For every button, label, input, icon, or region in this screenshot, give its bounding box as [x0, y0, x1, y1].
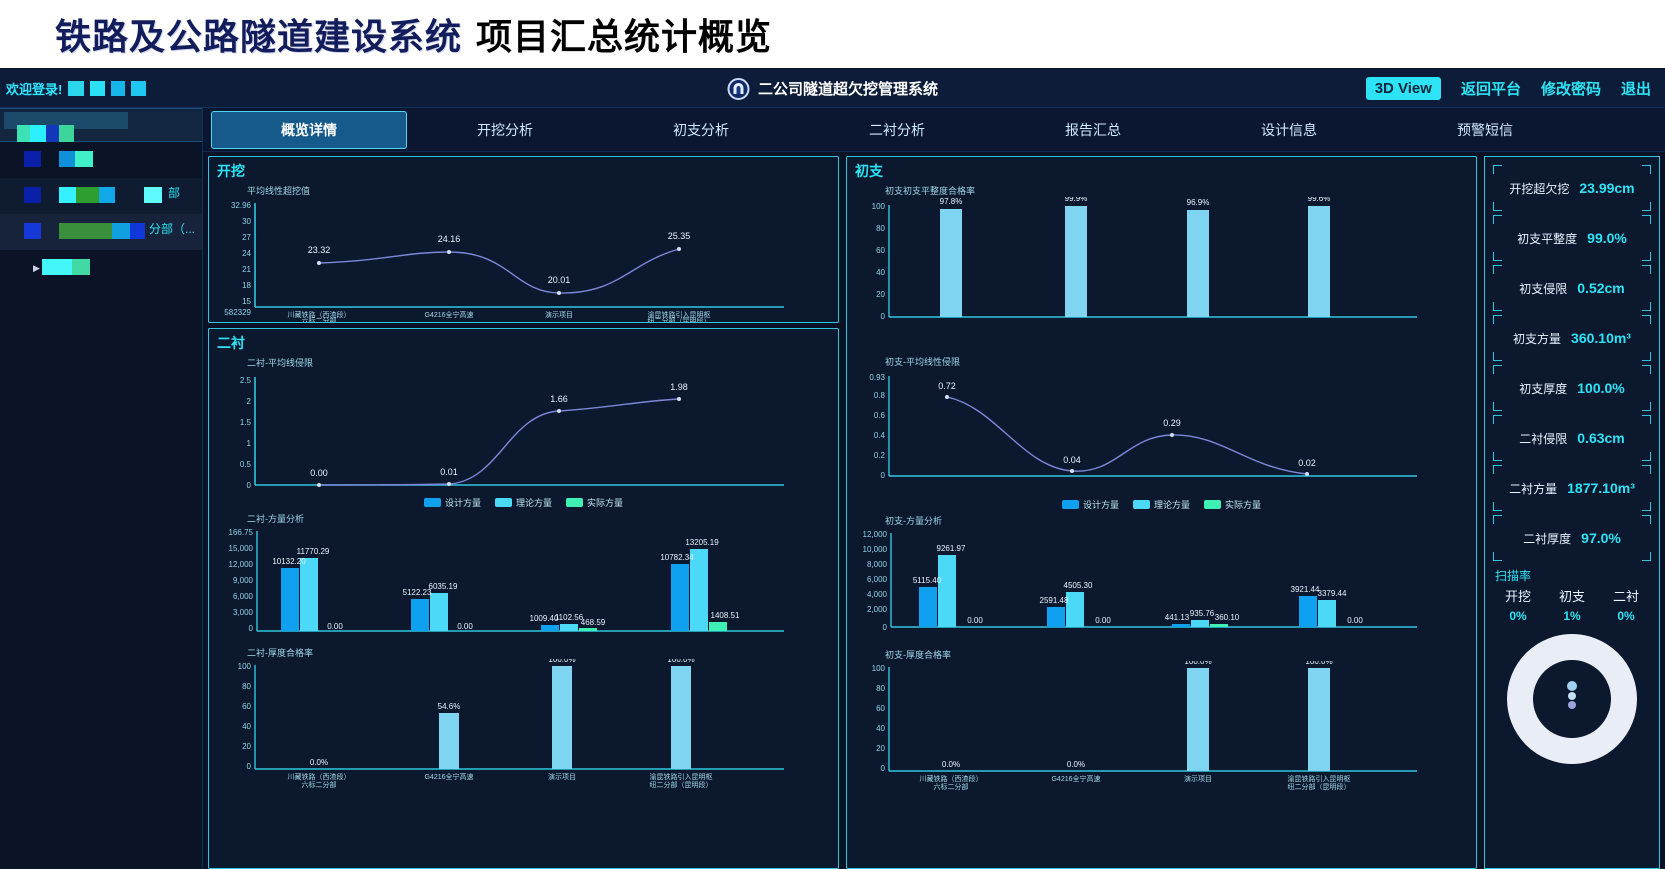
bar-design [919, 587, 937, 627]
legend-item-actual: 实际方量 [566, 496, 623, 509]
xtick: 纽二分部（昆明段） [648, 316, 711, 323]
stat-value: 99.0% [1587, 230, 1627, 246]
scan-rate-headers: 开挖 初支 二衬 [1491, 586, 1653, 605]
ytick: 0 [247, 762, 252, 771]
ytick: 20 [876, 744, 885, 753]
datalabel: 441.13 [1165, 613, 1190, 622]
corner-decoration [1493, 302, 1502, 311]
bar-flatness [1308, 206, 1330, 317]
tab-warning-sms[interactable]: 预警短信 [1387, 112, 1583, 148]
datalabel: 0.00 [967, 616, 983, 625]
scan-rate-donut-chart [1502, 629, 1642, 769]
datalabel: 24.16 [438, 234, 461, 244]
stat-support-volume: 初支方量 360.10m³ [1491, 313, 1653, 363]
datalabel: 2591.48 [1040, 596, 1069, 605]
datalabel: 0.02 [1298, 458, 1316, 468]
bar-design [1047, 607, 1065, 627]
chart-support-avg-limit: 0.93 0.8 0.6 0.4 0.2 0 [847, 368, 1427, 496]
ytick: 30 [242, 217, 251, 226]
tab-lining-analysis[interactable]: 二衬分析 [799, 112, 995, 148]
datalabel: 0.0% [310, 758, 328, 767]
bar-design [671, 564, 689, 631]
ytick: 15 [242, 297, 251, 306]
legend-item-theory: 理论方量 [1133, 498, 1190, 511]
datalabel: 1.66 [550, 394, 568, 404]
ytick: 3,000 [233, 608, 254, 617]
ytick: 60 [242, 702, 251, 711]
legend-item-theory: 理论方量 [495, 496, 552, 509]
bar-theory [300, 558, 318, 631]
corner-decoration [1642, 502, 1651, 511]
ytick: 100 [872, 664, 886, 673]
corner-decoration [1642, 315, 1651, 324]
chart-support-flatness-rate: 100 80 60 40 20 0 [847, 197, 1427, 352]
top-actions: 3D View 返回平台 修改密码 退出 [1366, 77, 1651, 100]
redacted-username-block [68, 81, 84, 96]
chart-title-support-thickness: 初支-厚度合格率 [847, 645, 1476, 661]
stat-label: 初支平整度 [1517, 230, 1577, 247]
corner-decoration [1493, 352, 1502, 361]
ytick: 2 [247, 397, 252, 406]
datalabel: 9261.97 [937, 544, 966, 553]
corner-decoration [1642, 415, 1651, 424]
ytick: 0 [881, 764, 886, 773]
stat-label: 二衬方量 [1509, 480, 1557, 497]
scan-head-support: 初支 [1559, 586, 1585, 605]
stat-support-thickness: 初支厚度 100.0% [1491, 363, 1653, 413]
redacted-block [24, 151, 41, 167]
chart-title-excavation-linear: 平均线性超挖值 [209, 181, 838, 197]
ytick: 80 [876, 224, 885, 233]
stat-label: 初支侵限 [1519, 280, 1567, 297]
ytick: 100 [872, 202, 886, 211]
stat-label: 二衬厚度 [1523, 530, 1571, 547]
bar-thickness [671, 666, 691, 769]
corner-decoration [1642, 515, 1651, 524]
legend-swatch-theory [1133, 500, 1150, 509]
logout-link[interactable]: 退出 [1621, 78, 1651, 99]
datalabel: 100.0% [1305, 661, 1332, 666]
ytick: 32.96 [231, 201, 252, 210]
datalabel: 0.04 [1063, 455, 1081, 465]
tab-report-summary[interactable]: 报告汇总 [995, 112, 1191, 148]
stat-label: 二衬侵限 [1519, 430, 1567, 447]
ytick: 0.6 [874, 411, 886, 420]
ytick: 15,000 [229, 544, 254, 553]
corner-decoration [1493, 252, 1502, 261]
corner-decoration [1642, 252, 1651, 261]
redacted-block [42, 259, 72, 275]
lining-panel-title: 二衬 [209, 329, 838, 353]
bar-flatness [1187, 210, 1209, 317]
datalabel: 100.0% [548, 659, 575, 664]
redacted-block [99, 187, 115, 203]
stat-value: 23.99cm [1579, 180, 1634, 196]
stat-value: 0.52cm [1577, 280, 1624, 296]
stat-lining-limit: 二衬侵限 0.63cm [1491, 413, 1653, 463]
sidebar-tree-item-label: 分部（... [149, 220, 195, 237]
ytick: 20 [876, 290, 885, 299]
stat-label: 初支厚度 [1519, 380, 1567, 397]
lining-panel: 二衬 二衬-平均线侵限 2.5 2 1.5 1 0.5 0 [208, 328, 839, 869]
stat-value: 100.0% [1577, 380, 1624, 396]
stat-label: 初支方量 [1513, 330, 1561, 347]
corner-decoration [1642, 202, 1651, 211]
ytick: 582329 [224, 308, 251, 317]
ytick: 0.93 [869, 373, 885, 382]
datalabel: 0.72 [938, 381, 956, 391]
datalabel: 0.00 [310, 468, 328, 478]
corner-decoration [1493, 365, 1502, 374]
redacted-block [130, 223, 145, 239]
stat-support-limit: 初支侵限 0.52cm [1491, 263, 1653, 313]
bar-design [1299, 596, 1317, 627]
corner-decoration [1493, 452, 1502, 461]
stat-lining-thickness: 二衬厚度 97.0% [1491, 513, 1653, 563]
ytick: 1.5 [240, 418, 252, 427]
chart-title-support-limit: 初支-平均线性侵限 [847, 352, 1476, 368]
ytick: 4,000 [867, 590, 888, 599]
corner-decoration [1642, 402, 1651, 411]
ytick: 27 [242, 233, 251, 242]
chevron-right-icon[interactable]: ▶ [33, 263, 40, 274]
redacted-block [24, 223, 41, 239]
xtick: 演示项目 [1184, 774, 1212, 783]
datalabel: 6035.19 [429, 582, 458, 591]
redacted-block [112, 223, 130, 239]
tab-overview[interactable]: 概览详情 [211, 111, 407, 149]
corner-decoration [1493, 402, 1502, 411]
redacted-block [59, 223, 112, 239]
scan-head-lining: 二衬 [1613, 586, 1639, 605]
xtick: 川藏铁路（西渣段） [920, 774, 983, 783]
chart-title-support-volume: 初支-方量分析 [847, 511, 1476, 527]
xtick: G4216全宁高速 [424, 772, 473, 781]
chart-title-lining-limit: 二衬-平均线侵限 [209, 353, 838, 369]
tab-excavation-analysis[interactable]: 开挖分析 [407, 112, 603, 148]
bar-theory [938, 555, 956, 627]
ytick: 9,000 [233, 576, 254, 585]
chart-lining-volume: 166.75 15,000 12,000 9,000 6,000 3,000 0 [209, 525, 789, 643]
corner-decoration [1493, 415, 1502, 424]
datalabel: 0.00 [457, 622, 473, 631]
redacted-username-block [111, 81, 125, 96]
datalabel: 360.10 [1215, 613, 1240, 622]
bar-design [541, 625, 559, 631]
corner-decoration [1493, 515, 1502, 524]
tunnel-logo-icon [727, 78, 749, 100]
datalabel: 10782.34 [660, 553, 694, 562]
chart-support-thickness-rate: 100 80 60 40 20 0 0.0% 0 [847, 661, 1427, 811]
legend-swatch-theory [495, 498, 512, 507]
page-title-primary: 铁路及公路隧道建设系统 [55, 8, 462, 60]
corner-decoration [1642, 365, 1651, 374]
datalabel: 54.6% [438, 702, 461, 711]
datalabel: 13205.19 [685, 538, 719, 547]
datalabel: 0.29 [1163, 418, 1181, 428]
corner-decoration [1493, 165, 1502, 174]
legend-label-theory: 理论方量 [516, 496, 552, 509]
bar-theory [560, 624, 578, 631]
xtick: 六标二分部 [302, 316, 337, 323]
legend-item-design: 设计方量 [424, 496, 481, 509]
brand-title: 二公司隧道超欠挖管理系统 [758, 78, 938, 99]
support-panel: 初支 初支初支平整度合格率 100 80 60 40 20 0 [846, 156, 1477, 869]
stat-value: 0.63cm [1577, 430, 1624, 446]
legend-item-actual: 实际方量 [1204, 498, 1261, 511]
middle-column: 初支 初支初支平整度合格率 100 80 60 40 20 0 [846, 156, 1477, 869]
bar-thickness [439, 713, 459, 769]
corner-decoration [1642, 302, 1651, 311]
brand-area: 二公司隧道超欠挖管理系统 [727, 78, 938, 100]
sidebar-tree-item-label: 部 [168, 184, 180, 201]
xtick: G4216全宁高速 [424, 310, 473, 319]
donut-marker-support [1567, 681, 1577, 691]
ytick: 0 [247, 481, 252, 490]
redacted-block [76, 187, 99, 203]
datalabel: 1.98 [670, 382, 688, 392]
ytick: 1 [247, 439, 252, 448]
ytick: 2.5 [240, 376, 252, 385]
tab-design-info[interactable]: 设计信息 [1191, 112, 1387, 148]
ytick: 12,000 [863, 530, 888, 539]
chart-support-volume: 12,000 10,000 8,000 6,000 4,000 2,000 0 [847, 527, 1427, 645]
bar-design [281, 568, 299, 631]
bar-theory [1318, 600, 1336, 627]
sidebar-header [0, 108, 202, 142]
redacted-block [17, 125, 30, 142]
body-wrapper: 部 分部（... ▶ 概览详情 开挖分析 初支分析 二衬分析 报告汇总 设计信息… [0, 108, 1665, 869]
corner-decoration [1642, 352, 1651, 361]
bar-actual [579, 628, 597, 631]
redacted-block [72, 259, 90, 275]
datalabel: 0.0% [1067, 760, 1085, 769]
corner-decoration [1642, 265, 1651, 274]
sidebar-tree-item[interactable]: ▶ [0, 250, 202, 286]
bar-theory [1191, 620, 1209, 627]
bar-actual [709, 622, 727, 631]
support-panel-title: 初支 [847, 157, 1476, 181]
ytick: 0 [881, 312, 886, 321]
excavation-panel-title: 开挖 [209, 157, 838, 181]
redacted-block [144, 187, 162, 203]
bar-design [1172, 624, 1190, 627]
xtick: 演示项目 [545, 310, 573, 319]
ytick: 166.75 [229, 528, 254, 537]
scan-rate-donut-wrapper [1491, 629, 1653, 769]
top-navigation-bar: 欢迎登录! 二公司隧道超欠挖管理系统 3D View 返回平台 修改密码 退出 [0, 70, 1665, 108]
tab-support-analysis[interactable]: 初支分析 [603, 112, 799, 148]
ytick: 2,000 [867, 605, 888, 614]
ytick: 60 [876, 704, 885, 713]
redacted-block [24, 187, 41, 203]
datalabel: 25.35 [668, 231, 691, 241]
datalabel: 23.32 [308, 245, 331, 255]
corner-decoration [1642, 165, 1651, 174]
datalabel: 99.6% [1308, 197, 1331, 203]
bar-theory [1066, 592, 1084, 627]
corner-decoration [1493, 552, 1502, 561]
legend-label-theory: 理论方量 [1154, 498, 1190, 511]
support-volume-legend: 设计方量 理论方量 实际方量 [847, 498, 1476, 511]
excavation-panel: 开挖 平均线性超挖值 32.96 30 27 24 21 18 15 58232… [208, 156, 839, 323]
sidebar-tree-item[interactable] [0, 142, 202, 178]
ytick: 20 [242, 742, 251, 751]
bar-thickness [1308, 668, 1330, 771]
corner-decoration [1493, 202, 1502, 211]
summary-stats-panel: 开挖超欠挖 23.99cm 初支平整度 99.0% 初支侵限 [1484, 156, 1660, 869]
legend-label-design: 设计方量 [445, 496, 481, 509]
welcome-message: 欢迎登录! [6, 79, 146, 98]
ytick: 60 [876, 246, 885, 255]
xtick: 渝昆铁路引入昆明枢 [650, 772, 713, 781]
donut-marker-lining [1568, 701, 1576, 709]
datalabel: 99.9% [1065, 197, 1088, 203]
redacted-username-block [131, 81, 146, 96]
chart-lining-thickness-rate: 100 80 60 40 20 0 0.0% [209, 659, 789, 814]
analysis-tabbar: 概览详情 开挖分析 初支分析 二衬分析 报告汇总 设计信息 预警短信 [203, 108, 1665, 152]
corner-decoration [1493, 215, 1502, 224]
datalabel: 3921.44 [1291, 585, 1320, 594]
scan-head-excavation: 开挖 [1505, 586, 1531, 605]
ytick: 12,000 [229, 560, 254, 569]
left-column: 开挖 平均线性超挖值 32.96 30 27 24 21 18 15 58232… [208, 156, 839, 869]
stat-value: 97.0% [1581, 530, 1621, 546]
legend-label-design: 设计方量 [1083, 498, 1119, 511]
ytick: 40 [242, 722, 251, 731]
xtick: 渝昆铁路引入昆明枢 [1288, 774, 1351, 783]
project-tree-sidebar[interactable]: 部 分部（... ▶ [0, 108, 203, 869]
bar-flatness [1065, 206, 1087, 317]
scan-value-support: 1% [1563, 609, 1580, 623]
legend-swatch-design [1062, 500, 1079, 509]
datalabel: 11770.29 [297, 547, 330, 556]
datalabel: 20.01 [548, 275, 571, 285]
page-title-banner: 铁路及公路隧道建设系统 项目汇总统计概览 [0, 0, 1665, 70]
corner-decoration [1493, 502, 1502, 511]
scan-value-excavation: 0% [1509, 609, 1526, 623]
scan-rate-values: 0% 1% 0% [1491, 605, 1653, 623]
ytick: 21 [242, 265, 251, 274]
ytick: 6,000 [233, 592, 254, 601]
legend-swatch-actual [566, 498, 583, 507]
chart-lining-avg-limit: 2.5 2 1.5 1 0.5 0 [209, 369, 789, 494]
scan-value-lining: 0% [1617, 609, 1634, 623]
chart-title-lining-volume: 二衬-方量分析 [209, 509, 838, 525]
ytick: 6,000 [867, 575, 888, 584]
corner-decoration [1493, 465, 1502, 474]
welcome-label: 欢迎登录! [6, 79, 62, 98]
return-platform-link[interactable]: 返回平台 [1461, 78, 1521, 99]
xtick: 川藏铁路（西渣段） [288, 772, 351, 781]
page-title-secondary: 项目汇总统计概览 [476, 8, 772, 60]
ytick: 80 [242, 682, 251, 691]
redacted-block [46, 125, 59, 142]
redacted-block [30, 125, 46, 142]
sidebar-tree-item-selected[interactable]: 分部（... [0, 214, 202, 250]
corner-decoration [1642, 452, 1651, 461]
ytick: 0 [883, 623, 888, 632]
ytick: 0.4 [874, 431, 886, 440]
lining-volume-legend: 设计方量 理论方量 实际方量 [209, 496, 838, 509]
corner-decoration [1642, 552, 1651, 561]
xtick: 纽二分部（昆明段） [650, 780, 713, 789]
datalabel: 1408.51 [711, 611, 740, 620]
datalabel: 100.0% [667, 659, 694, 664]
bar-thickness [1187, 668, 1209, 771]
corner-decoration [1493, 265, 1502, 274]
ytick: 0.5 [240, 460, 252, 469]
datalabel: 1102.56 [555, 613, 584, 622]
legend-label-actual: 实际方量 [587, 496, 623, 509]
bar-theory [430, 593, 448, 631]
ytick: 10,000 [863, 545, 888, 554]
bar-design [411, 599, 429, 631]
datalabel: 100.0% [1184, 661, 1211, 666]
corner-decoration [1642, 465, 1651, 474]
ytick: 0 [881, 471, 886, 480]
chart-title-support-flatness: 初支初支平整度合格率 [847, 181, 1476, 197]
xtick: 纽二分部（昆明段） [1288, 782, 1351, 791]
main-content: 概览详情 开挖分析 初支分析 二衬分析 报告汇总 设计信息 预警短信 开挖 平均… [203, 108, 1665, 869]
datalabel: 0.01 [440, 467, 458, 477]
datalabel: 0.0% [942, 760, 960, 769]
xtick: 演示项目 [548, 772, 576, 781]
xtick: G4216全宁高速 [1051, 774, 1100, 783]
ytick: 100 [238, 662, 252, 671]
ytick: 0.8 [874, 391, 886, 400]
stat-value: 1877.10m³ [1567, 480, 1635, 496]
ytick: 18 [242, 281, 251, 290]
datalabel: 0.00 [1347, 616, 1363, 625]
stat-label: 开挖超欠挖 [1509, 180, 1569, 197]
stat-excavation-overbreak: 开挖超欠挖 23.99cm [1491, 163, 1653, 213]
datalabel: 96.9% [1187, 198, 1210, 207]
donut-marker-excavation [1568, 692, 1576, 700]
scan-rate-title: 扫描率 [1495, 567, 1653, 584]
3d-view-button[interactable]: 3D View [1366, 77, 1441, 100]
redacted-block [59, 187, 76, 203]
xtick: 六标二分部 [934, 782, 969, 791]
dashboard-content: 开挖 平均线性超挖值 32.96 30 27 24 21 18 15 58232… [203, 152, 1665, 869]
datalabel: 5115.40 [913, 576, 942, 585]
change-password-link[interactable]: 修改密码 [1541, 78, 1601, 99]
datalabel: 0.00 [1095, 616, 1111, 625]
legend-item-design: 设计方量 [1062, 498, 1119, 511]
chart-title-lining-thickness: 二衬-厚度合格率 [209, 643, 838, 659]
ytick: 40 [876, 724, 885, 733]
ytick: 80 [876, 684, 885, 693]
redacted-block [59, 151, 75, 167]
corner-decoration [1493, 315, 1502, 324]
datalabel: 0.00 [327, 622, 343, 631]
ytick: 8,000 [867, 560, 888, 569]
ytick: 0.2 [874, 451, 886, 460]
datalabel: 97.8% [940, 197, 963, 206]
datalabel: 3379.44 [1318, 589, 1347, 598]
bar-actual [1210, 624, 1228, 627]
ytick: 0 [249, 624, 254, 633]
bar-thickness [552, 666, 572, 769]
chart-excavation-linear: 32.96 30 27 24 21 18 15 582329 [209, 197, 789, 323]
datalabel: 935.76 [1190, 609, 1215, 618]
legend-swatch-actual [1204, 500, 1221, 509]
ytick: 40 [876, 268, 885, 277]
sidebar-tree-item[interactable]: 部 [0, 178, 202, 214]
ytick: 24 [242, 249, 251, 258]
xtick: 六标二分部 [302, 780, 337, 789]
redacted-block [59, 125, 74, 142]
